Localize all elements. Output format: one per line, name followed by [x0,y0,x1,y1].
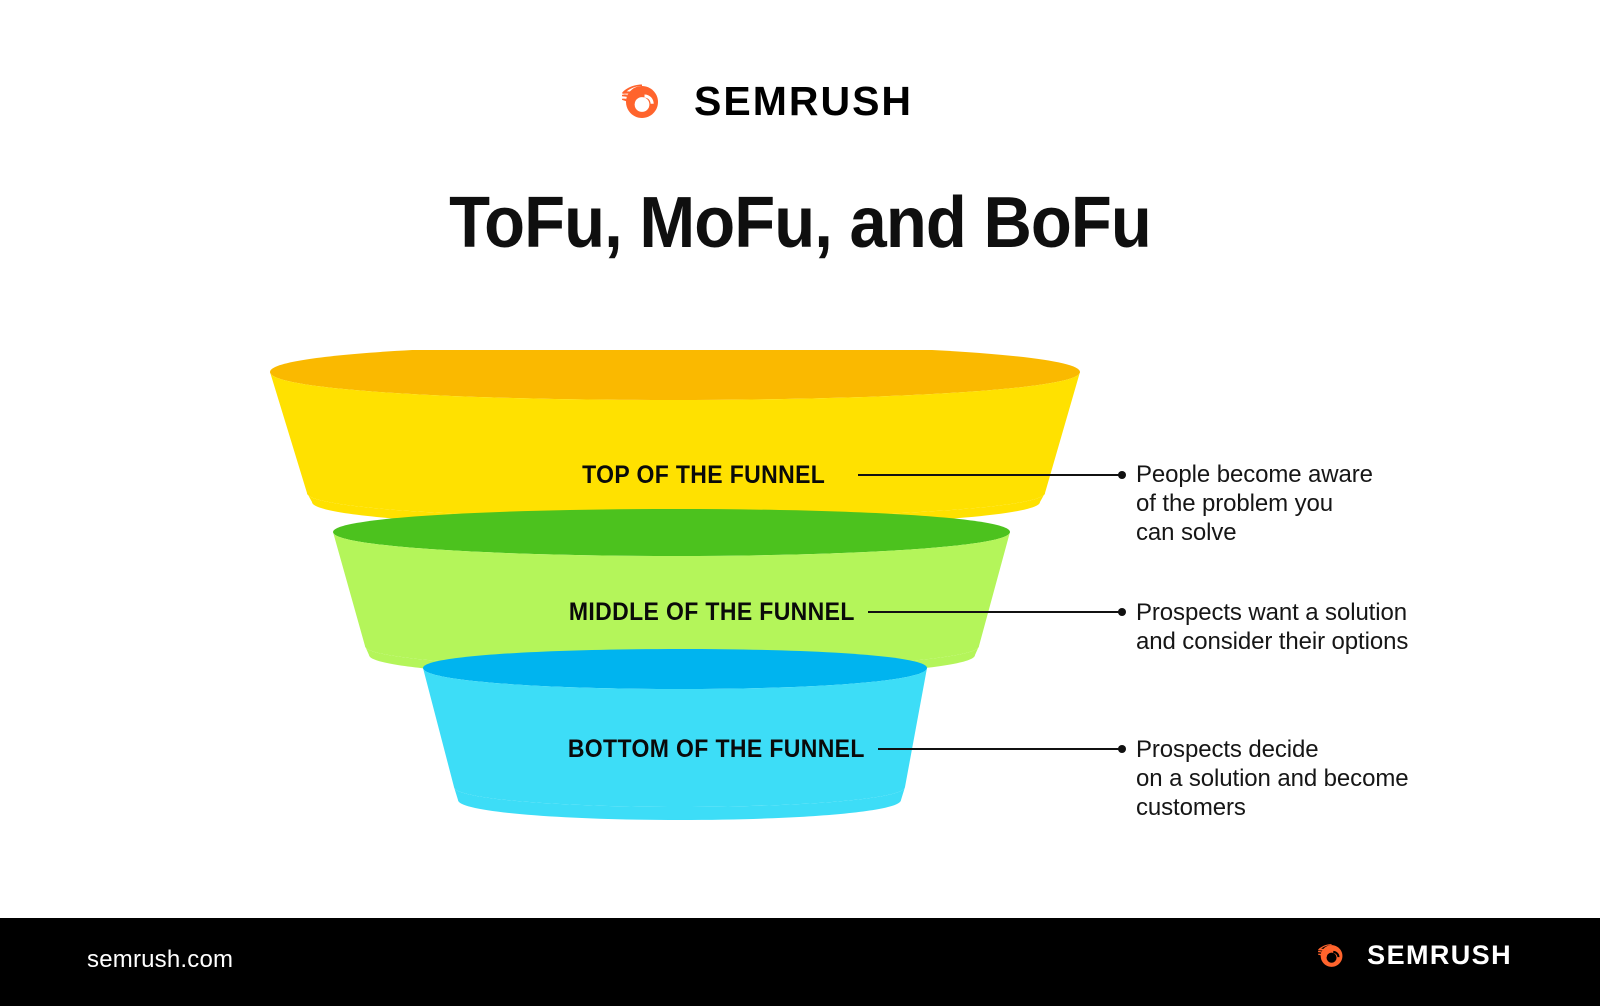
semrush-logo-footer: SEMRUSH [1318,940,1512,971]
semrush-comet-icon [1318,942,1356,970]
semrush-wordmark: SEMRUSH [1367,940,1512,971]
footer-bar: semrush.com SEMRUSH [0,918,1600,1006]
semrush-logo-header: SEMRUSH [622,78,913,125]
funnel-stage-top [270,350,1080,527]
page-title: ToFu, MoFu, and BoFu [56,181,1544,265]
funnel-label-top: TOP OF THE FUNNEL [582,461,825,490]
infographic-canvas: SEMRUSH ToFu, MoFu, and BoFu [0,0,1600,1006]
leader-line-middle [868,611,1122,613]
funnel-label-middle: MIDDLE OF THE FUNNEL [569,598,855,627]
leader-line-bottom [878,748,1122,750]
funnel-description-bottom: Prospects decide on a solution and becom… [1136,735,1408,822]
funnel-label-bottom: BOTTOM OF THE FUNNEL [568,735,865,764]
funnel-description-top: People become aware of the problem you c… [1136,460,1373,547]
footer-website-url[interactable]: semrush.com [87,946,233,974]
leader-line-top [858,474,1122,476]
funnel-description-middle: Prospects want a solution and consider t… [1136,598,1408,656]
semrush-comet-icon [622,82,678,122]
semrush-wordmark: SEMRUSH [694,78,913,125]
